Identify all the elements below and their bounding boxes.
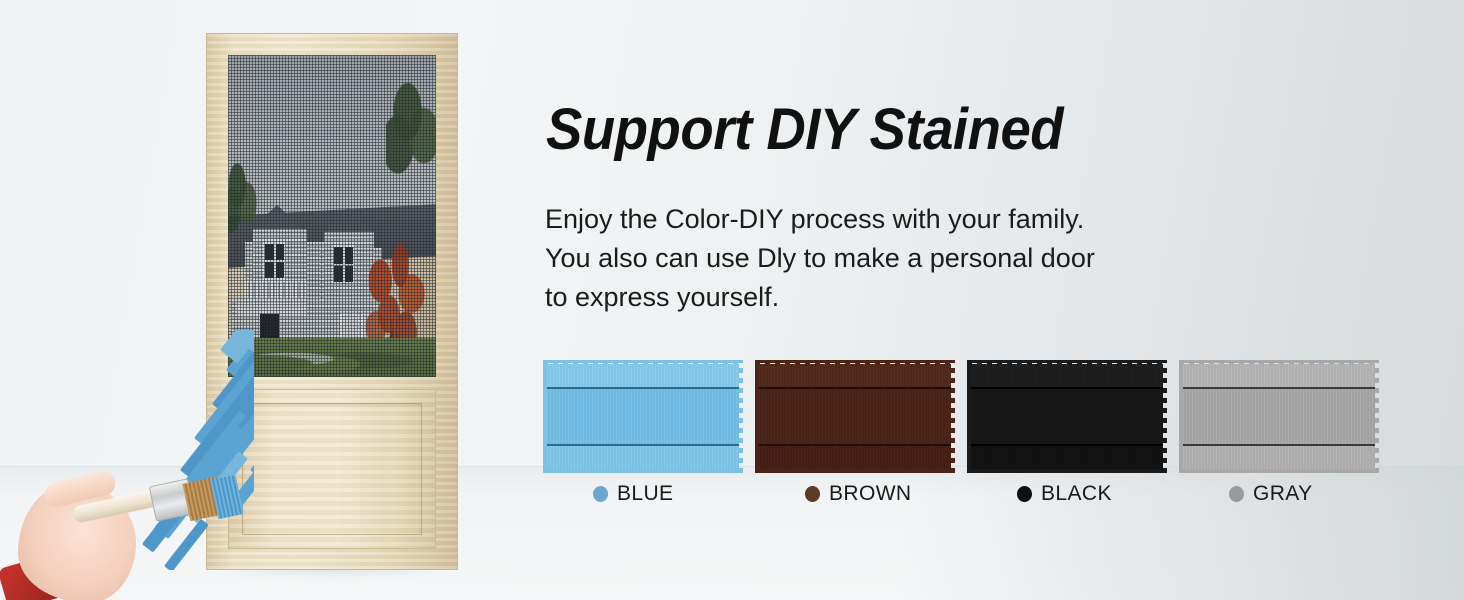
page-title: Support DIY Stained — [546, 96, 1063, 163]
promo-banner: Support DIY Stained Enjoy the Color-DIY … — [0, 0, 1464, 600]
swatch-label: BLACK — [1017, 482, 1112, 506]
swatch-label-text: BLUE — [617, 482, 673, 506]
swatch-cell[interactable]: GRAY — [1179, 360, 1379, 473]
plank-seam — [971, 387, 1163, 389]
door-screen-mesh-panel — [228, 55, 436, 377]
swatch-wood-texture — [547, 364, 739, 469]
color-swatch-brown[interactable] — [755, 360, 955, 473]
swatch-wood-texture — [759, 364, 951, 469]
door-panel-inset — [242, 403, 422, 535]
plank-seam — [759, 387, 951, 389]
plank-seam — [1183, 444, 1375, 446]
swatch-wood-texture — [1183, 364, 1375, 469]
color-dot-icon — [593, 486, 608, 502]
body-copy: Enjoy the Color-DIY process with your fa… — [545, 200, 1285, 317]
body-line-1: Enjoy the Color-DIY process with your fa… — [545, 200, 1285, 239]
color-swatch-row: BLUEBROWNBLACKGRAY — [543, 360, 1383, 512]
swatch-label-text: GRAY — [1253, 482, 1313, 506]
color-swatch-black[interactable] — [967, 360, 1167, 473]
mesh-grid-icon — [228, 55, 436, 377]
body-line-2: You also can use Dly to make a personal … — [545, 239, 1285, 278]
color-dot-icon — [1229, 486, 1244, 502]
swatch-label-text: BROWN — [829, 482, 912, 506]
swatch-label: BROWN — [805, 482, 912, 506]
color-swatch-gray[interactable] — [1179, 360, 1379, 473]
plank-seam — [971, 444, 1163, 446]
color-swatch-blue[interactable] — [543, 360, 743, 473]
swatch-cell[interactable]: BLACK — [967, 360, 1167, 473]
color-dot-icon — [805, 486, 820, 502]
body-line-3: to express yourself. — [545, 278, 1285, 317]
plank-seam — [759, 444, 951, 446]
plank-seam — [547, 444, 739, 446]
plank-seam — [1183, 387, 1375, 389]
swatch-wood-texture — [971, 364, 1163, 469]
color-dot-icon — [1017, 486, 1032, 502]
swatch-label: GRAY — [1229, 482, 1313, 506]
door-lower-panel — [228, 389, 436, 549]
swatch-label-text: BLACK — [1041, 482, 1112, 506]
swatch-cell[interactable]: BROWN — [755, 360, 955, 473]
hand-with-paintbrush — [18, 455, 258, 600]
swatch-cell[interactable]: BLUE — [543, 360, 743, 473]
plank-seam — [547, 387, 739, 389]
swatch-label: BLUE — [593, 482, 673, 506]
